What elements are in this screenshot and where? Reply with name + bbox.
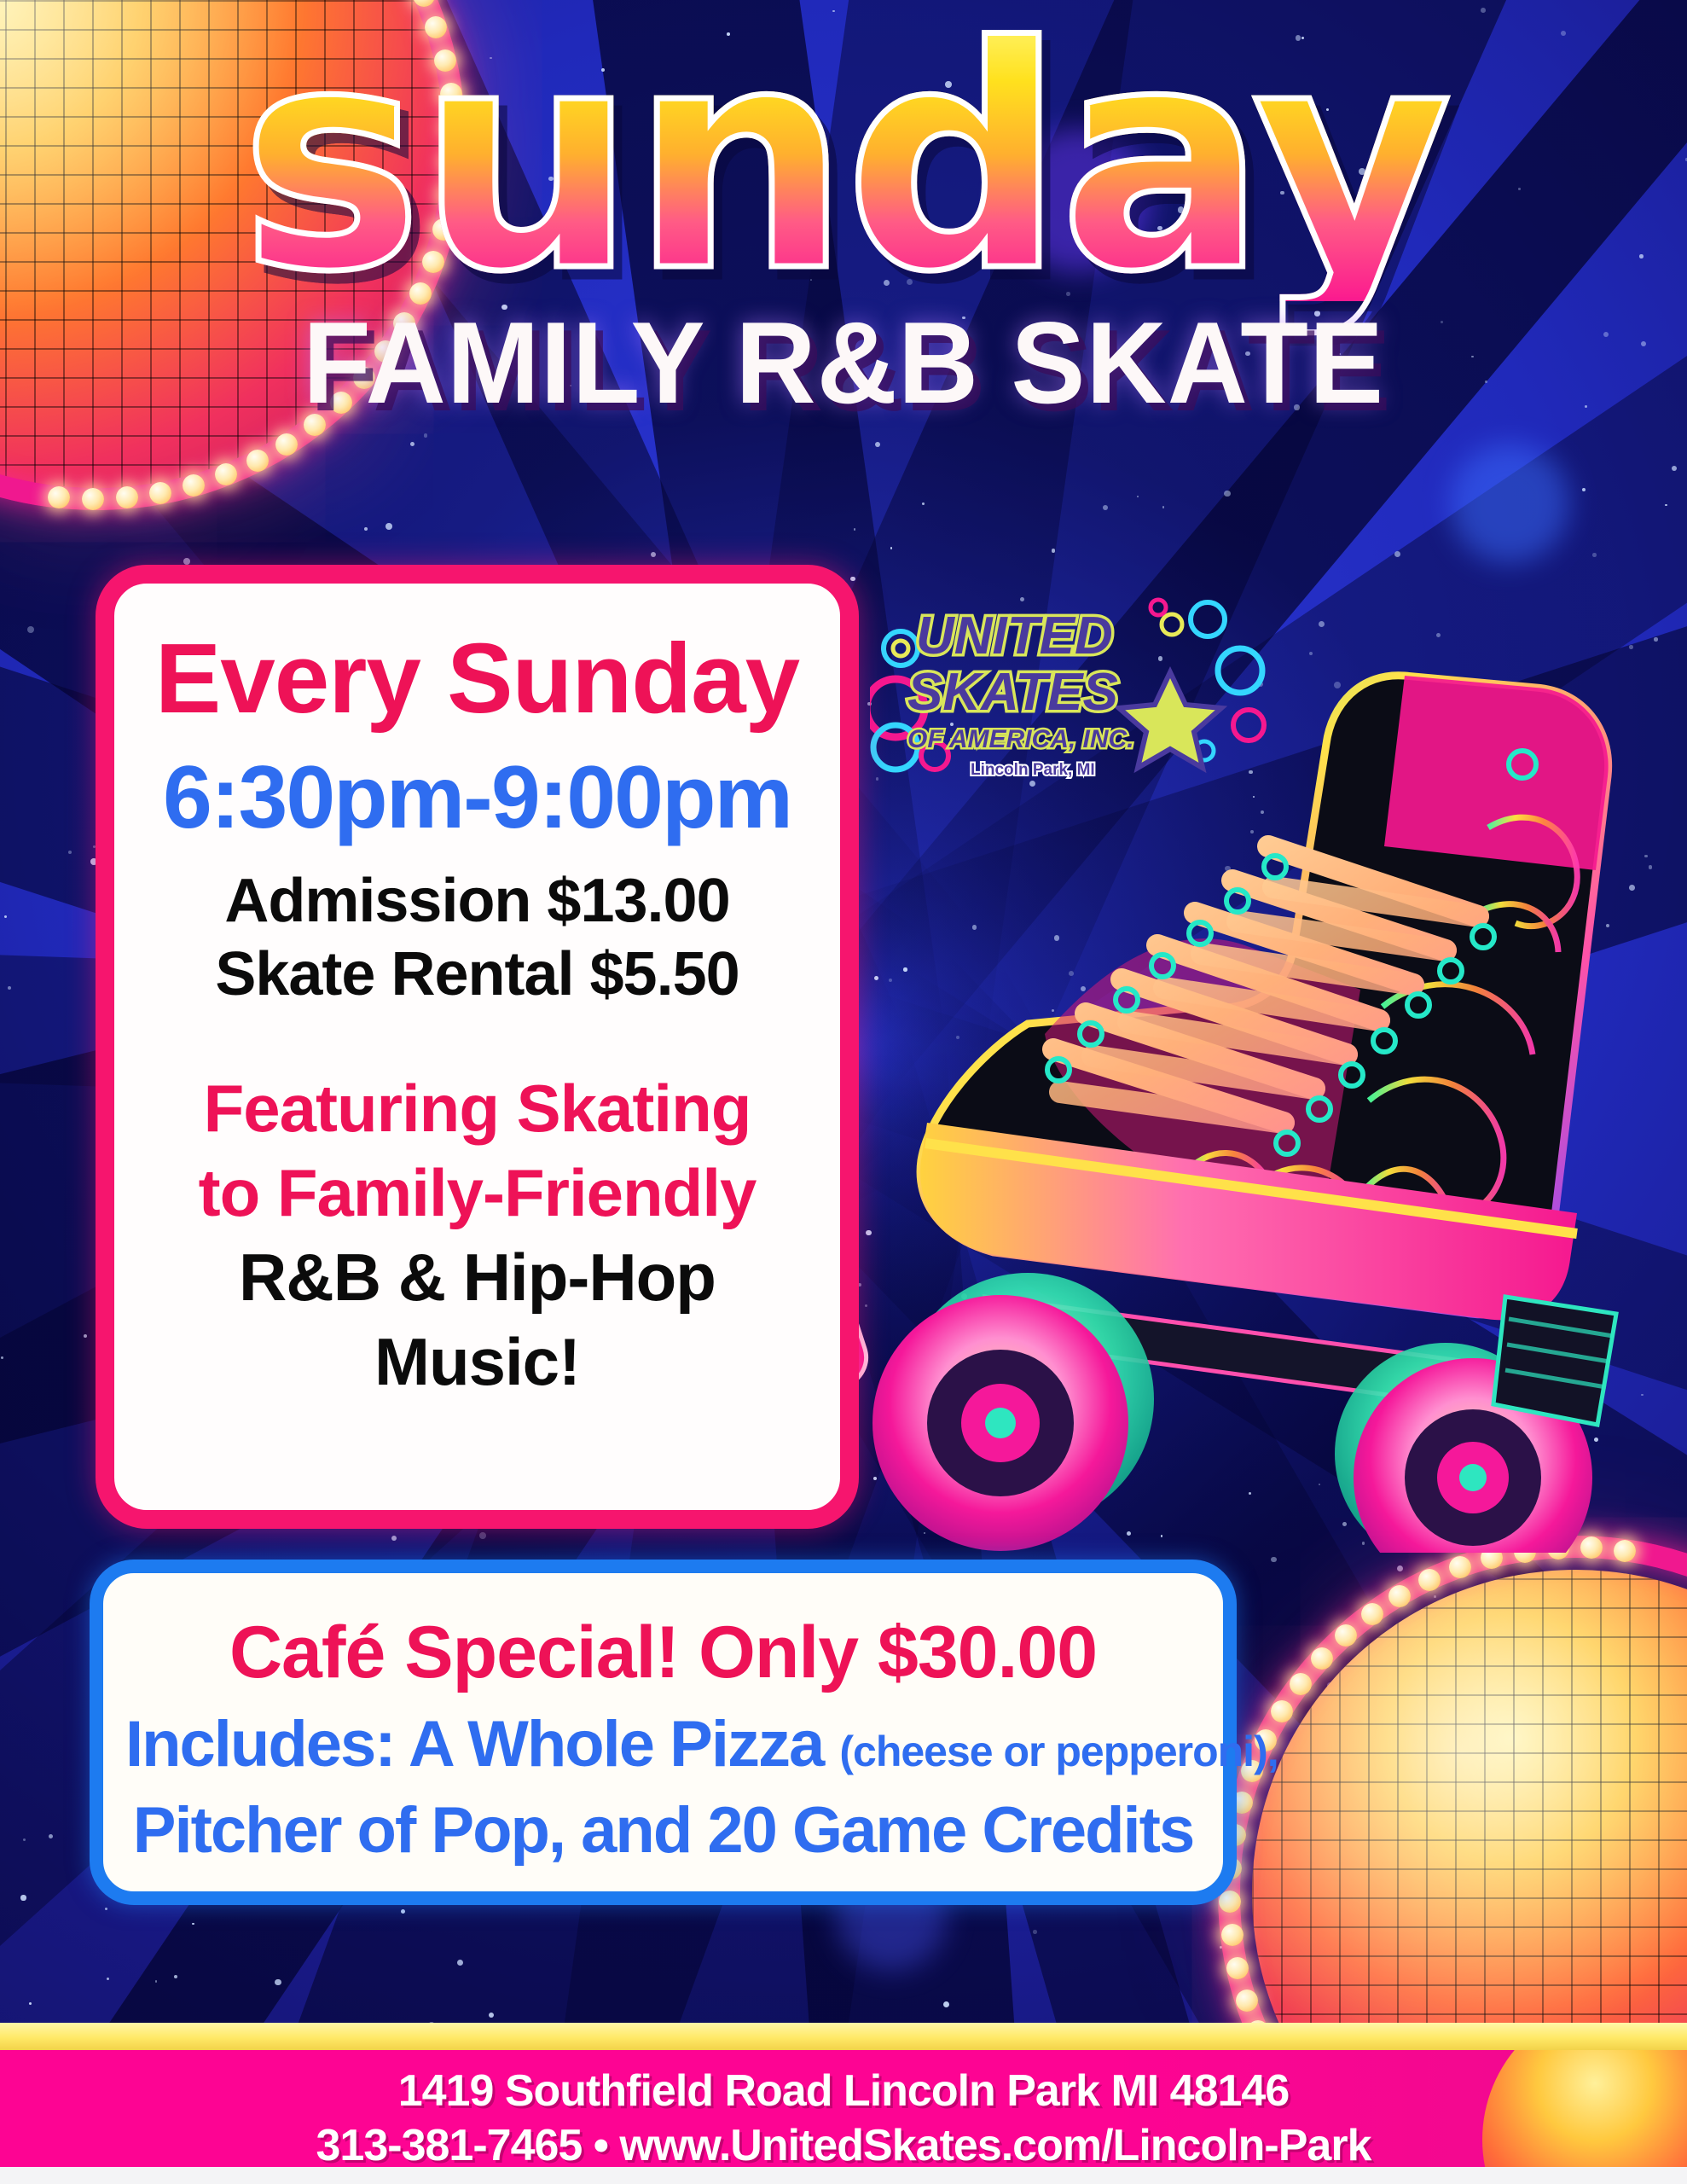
star-dot [8,986,11,990]
cafe-special-box: Café Special! Only $30.00 Includes: A Wh… [90,1560,1237,1905]
star-dot [4,915,7,918]
marquee-bulb [48,486,70,508]
star-dot [1,1356,3,1358]
star-icon [1119,672,1221,768]
star-dot [155,1980,158,1983]
marquee-bulb [246,450,269,472]
star-dot [1481,8,1486,13]
cafe-includes-note: (cheese or pepperoni), [839,1728,1278,1775]
page-title: sunday [0,19,1687,301]
flyer-poster: UNITED SKATES OF AMERICA, INC. Lincoln P… [0,0,1687,2184]
page-subtitle: FAMILY R&B SKATE [34,296,1654,429]
star-dot [29,2002,32,2005]
star-dot [1271,1557,1277,1563]
feature-line-2: to Family-Friendly [140,1154,815,1232]
star-dot [401,1909,405,1914]
marquee-bulb [1290,1673,1312,1695]
star-dot [1665,504,1667,506]
united-skates-logo: UNITED SKATES OF AMERICA, INC. Lincoln P… [870,589,1271,785]
star-dot [1137,496,1139,497]
cafe-includes-main: Includes: A Whole Pizza [125,1708,823,1780]
marquee-bulb [82,488,104,510]
marquee-bulb [1418,1569,1441,1591]
event-info-card: Every Sunday 6:30pm-9:00pm Admission $13… [96,565,859,1529]
event-time: 6:30pm-9:00pm [140,747,815,849]
boot-cuff [1384,676,1609,870]
star-dot [105,1908,107,1910]
star-dot [922,502,925,505]
logo-line-skates: SKATES [907,663,1118,722]
background-glow [1450,444,1569,563]
boot-heel [1493,1297,1616,1425]
bottom-edge-strip [0,2167,1687,2184]
star-dot [1162,506,1165,508]
star-dot [183,558,190,565]
logo-line-location: Lincoln Park, MI [971,761,1095,779]
logo-line-united: UNITED [916,607,1113,665]
admission-price: Admission $13.00 [140,866,815,936]
star-dot [107,1978,110,1981]
star-dot [192,1923,194,1926]
marquee-bulb [1335,1624,1357,1647]
cafe-includes-line: Includes: A Whole Pizza (cheese or peppe… [125,1707,1201,1781]
gold-divider-stripe [0,2023,1687,2050]
cafe-special-title: Café Special! Only $30.00 [125,1611,1201,1695]
star-dot [457,1960,463,1966]
marquee-bulb [1388,1585,1411,1607]
marquee-bulb [275,433,298,456]
star-dot [68,851,72,854]
star-dot [20,1895,26,1900]
star-dot [479,1532,486,1539]
star-dot [174,1975,177,1978]
star-dot [49,1834,54,1839]
star-dot [84,1334,87,1338]
star-dot [275,1979,281,1985]
star-dot [391,1536,397,1541]
star-dot [1033,1930,1037,1934]
feature-line-3: R&B & Hip-Hop [140,1239,815,1316]
star-dot [854,528,855,530]
marquee-bulb [1236,1989,1258,2012]
marquee-bulb [1221,1924,1244,1946]
star-dot [875,442,880,447]
marquee-bulb [1361,1603,1383,1625]
marquee-bulb [1226,1957,1249,1979]
skate-rental-price: Skate Rental $5.50 [140,939,815,1009]
footer-address: 1419 Southfield Road Lincoln Park MI 481… [0,2065,1687,2117]
marquee-bulb [1271,1700,1293,1722]
feature-line-4: Music! [140,1323,815,1401]
star-dot [489,2013,494,2018]
cafe-includes-line-2: Pitcher of Pop, and 20 Game Credits [125,1793,1201,1867]
star-dot [364,527,368,531]
star-dot [386,523,392,530]
star-dot [1103,505,1108,510]
feature-line-1: Featuring Skating [140,1070,815,1147]
wheel-front [872,1273,1154,1551]
star-dot [23,1838,26,1841]
footer-contact-bar: 1419 Southfield Road Lincoln Park MI 481… [0,2050,1687,2167]
title-block: sunday FAMILY R&B SKATE [0,19,1687,429]
star-dot [1224,491,1231,497]
star-dot [27,626,34,633]
star-dot [1672,466,1677,471]
event-frequency: Every Sunday [140,621,815,735]
star-dot [651,552,656,557]
star-dot [943,2001,949,2007]
star-dot [1582,488,1586,491]
footer-contact[interactable]: 313-381-7465 • www.UnitedSkates.com/Linc… [0,2120,1687,2167]
logo-line-america: OF AMERICA, INC. [907,725,1134,753]
section-divider: _______________________ [140,1028,815,1060]
